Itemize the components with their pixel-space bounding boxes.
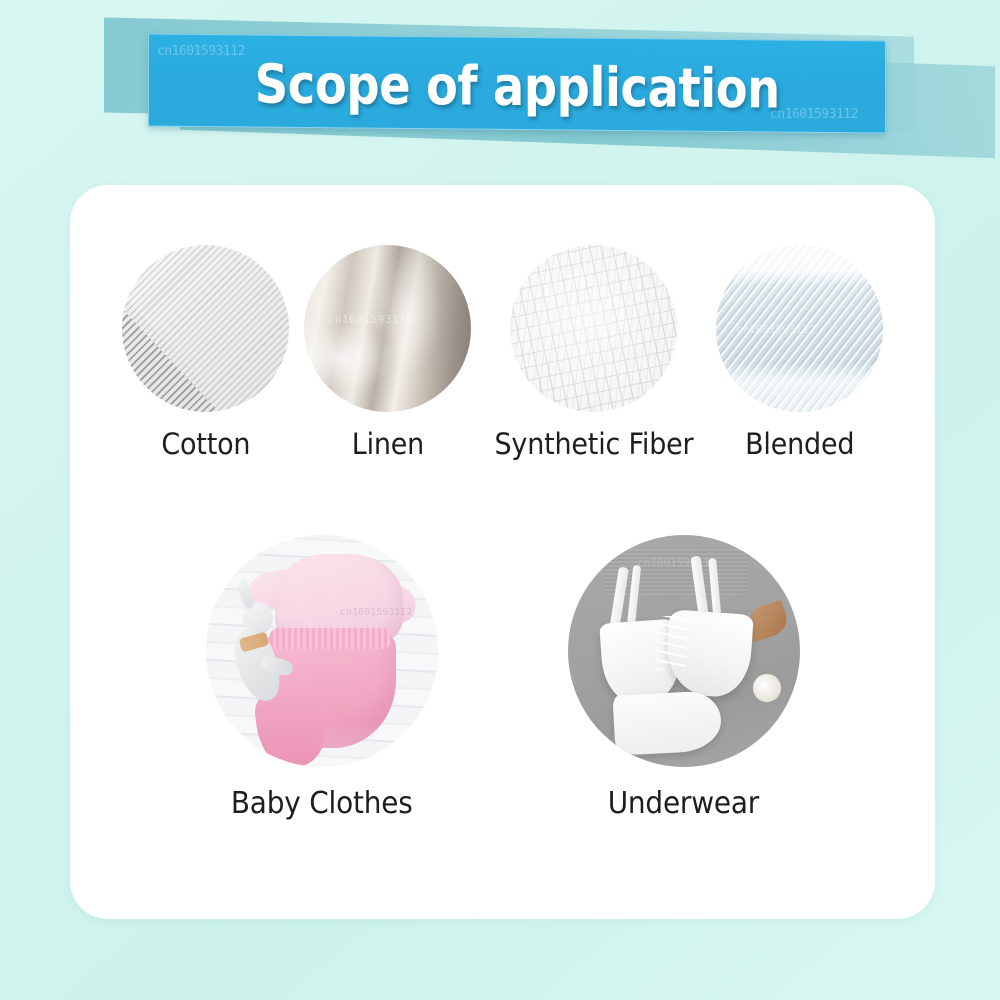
fabric-item-synthetic-fiber[interactable]: Synthetic Fiber — [487, 245, 701, 459]
cotton-fabric-icon — [122, 245, 289, 412]
fabric-item-linen[interactable]: cn1601593112 Linen — [304, 245, 471, 459]
fabric-type-row: Cotton cn1601593112 Linen Synthetic Fibe… — [70, 245, 935, 459]
content-card: Cotton cn1601593112 Linen Synthetic Fibe… — [70, 185, 935, 919]
fabric-item-blended[interactable]: cn1601593112 Blended — [716, 245, 883, 459]
watermark-baby-clothes: cn1601593112 — [340, 607, 412, 618]
underwear-icon: cn1601593112 — [568, 535, 800, 767]
garment-type-row: cn1601593112 Baby Clothes — [70, 535, 935, 819]
fabric-label-linen: Linen — [349, 430, 427, 459]
banner: Scope of application cn1601593112 cn1601… — [0, 0, 1000, 165]
watermark-top-left: cn1601593112 — [157, 44, 245, 59]
blended-fabric-icon: cn1601593112 — [716, 245, 883, 412]
infographic-page: Scope of application cn1601593112 cn1601… — [0, 0, 1000, 1000]
watermark-underwear: cn1601593112 — [637, 556, 716, 569]
baby-clothes-icon: cn1601593112 — [206, 535, 438, 767]
fabric-label-blended: Blended — [741, 430, 858, 459]
garment-label-underwear: Underwear — [602, 789, 765, 819]
garment-item-baby-clothes[interactable]: cn1601593112 Baby Clothes — [206, 535, 438, 819]
linen-fabric-icon: cn1601593112 — [304, 245, 471, 412]
synthetic-fiber-icon — [510, 245, 677, 412]
garment-item-underwear[interactable]: cn1601593112 Underwear — [568, 535, 800, 819]
fabric-label-cotton: Cotton — [158, 430, 254, 459]
garment-label-baby-clothes: Baby Clothes — [224, 789, 419, 819]
page-title-text: Scope of application — [254, 52, 779, 120]
watermark-linen: cn1601593112 — [328, 313, 413, 326]
fabric-label-synthetic-fiber: Synthetic Fiber — [487, 430, 701, 459]
watermark-blended: cn1601593112 — [736, 323, 815, 336]
watermark-bottom-right: cn1601593112 — [770, 107, 858, 122]
fabric-item-cotton[interactable]: Cotton — [122, 245, 289, 459]
